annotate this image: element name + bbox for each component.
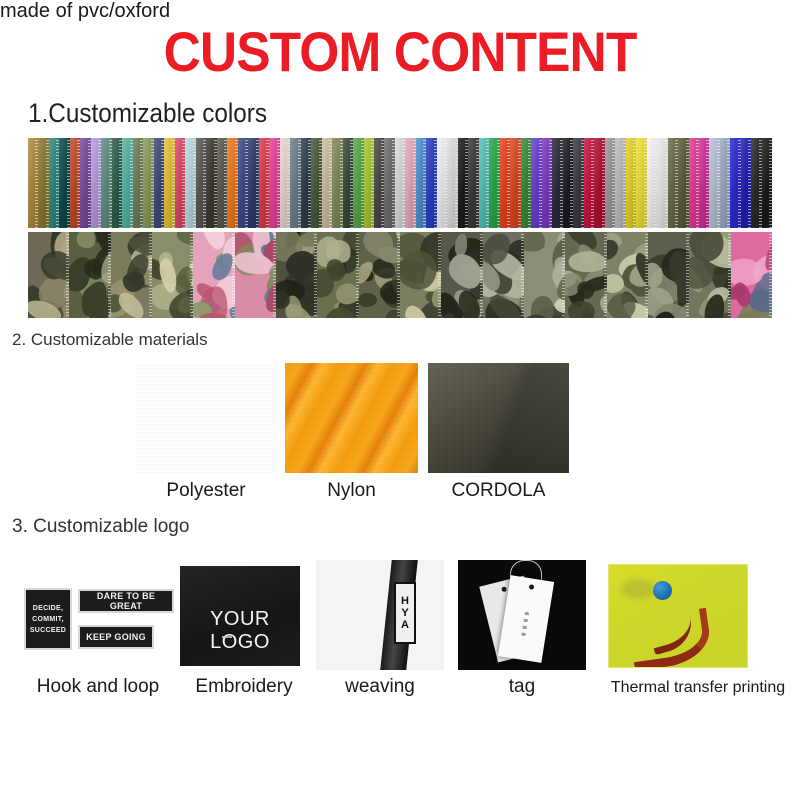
color-swatch: [353, 138, 363, 228]
logo-image-embroidery: YOUR LOGO: [180, 566, 300, 666]
camo-blob: [123, 271, 146, 292]
color-swatch: [196, 138, 206, 228]
embroidery-text: YOUR LOGO: [180, 608, 300, 654]
camo-swatch: [400, 232, 441, 318]
color-swatch: [38, 138, 48, 228]
tag-print-dots: [521, 612, 529, 638]
color-swatch: [364, 138, 374, 228]
camo-blob: [336, 283, 359, 304]
color-swatch: [227, 138, 237, 228]
color-swatch: [468, 138, 478, 228]
color-swatch: [374, 138, 384, 228]
color-swatch: [730, 138, 740, 228]
color-swatch: [49, 138, 59, 228]
color-swatch: [290, 138, 300, 228]
color-swatch: [322, 138, 332, 228]
fabric-texture-overlay: [285, 363, 418, 473]
camo-swatch-strip: [28, 232, 772, 318]
color-swatch: [479, 138, 489, 228]
material-label-cordola: CORDOLA: [428, 480, 569, 502]
color-swatch: [164, 138, 174, 228]
caption-tag: tag: [458, 676, 586, 698]
patch-line-2: COMMIT,: [32, 614, 64, 625]
camo-swatch: [607, 232, 648, 318]
color-swatch: [437, 138, 447, 228]
color-swatch: [500, 138, 510, 228]
color-swatch: [175, 138, 185, 228]
camo-blob: [568, 251, 606, 273]
section-heading-materials: 2. Customizable materials: [12, 330, 208, 350]
camo-swatch: [276, 232, 317, 318]
color-swatch: [28, 138, 38, 228]
color-swatch: [762, 138, 772, 228]
fabric-texture-overlay: [428, 363, 569, 473]
color-swatch: [206, 138, 216, 228]
thermal-blue-dot: [653, 581, 672, 600]
color-swatch: [405, 138, 415, 228]
logo-image-thermal-transfer: [608, 564, 748, 668]
material-image-cordola: [428, 363, 569, 473]
woven-label-letter-3: A: [401, 619, 409, 631]
camo-swatch: [483, 232, 524, 318]
color-swatch: [668, 138, 678, 228]
color-swatch: [259, 138, 269, 228]
color-swatch: [280, 138, 290, 228]
color-swatch: [332, 138, 342, 228]
infographic-page: CUSTOM CONTENT 1.Customizable colors 2. …: [0, 0, 800, 800]
patch-line-3: SUCCEED: [30, 625, 66, 636]
logo-image-weaving: H Y A: [316, 560, 444, 670]
logo-image-tag: [458, 560, 586, 670]
color-swatch: [626, 138, 636, 228]
woven-label-letter-2: Y: [401, 607, 408, 619]
camo-swatch: [441, 232, 482, 318]
camo-swatch: [69, 232, 110, 318]
color-swatch: [657, 138, 667, 228]
color-swatch: [699, 138, 709, 228]
material-image-polyester: [136, 363, 276, 473]
color-swatch: [552, 138, 562, 228]
camo-swatch: [565, 232, 606, 318]
color-swatch: [636, 138, 646, 228]
camo-swatch: [152, 232, 193, 318]
material-label-nylon: Nylon: [285, 480, 418, 502]
woven-label-letter-1: H: [401, 595, 409, 607]
camo-swatch: [731, 232, 772, 318]
color-swatch: [154, 138, 164, 228]
tag-hole: [528, 584, 534, 590]
material-label-polyester: Polyester: [136, 480, 276, 502]
color-swatch: [217, 138, 227, 228]
section-heading-logo: 3. Customizable logo: [12, 516, 189, 538]
color-swatch: [521, 138, 531, 228]
color-swatch: [489, 138, 499, 228]
color-swatch: [395, 138, 405, 228]
color-swatch: [647, 138, 657, 228]
color-swatch: [709, 138, 719, 228]
color-swatch: [269, 138, 279, 228]
camo-blob: [359, 293, 378, 308]
color-swatch: [720, 138, 730, 228]
color-swatch: [112, 138, 122, 228]
camo-blob: [381, 306, 400, 318]
color-swatch: [751, 138, 761, 228]
color-swatch: [238, 138, 248, 228]
color-swatch: [133, 138, 143, 228]
camo-swatch: [193, 232, 234, 318]
caption-hook-and-loop: Hook and loop: [4, 676, 192, 698]
camo-swatch: [359, 232, 400, 318]
fabric-smudge: [621, 579, 655, 599]
color-swatch: [615, 138, 625, 228]
color-swatch: [584, 138, 594, 228]
fabric-texture-overlay: [136, 363, 276, 473]
color-swatch: [59, 138, 69, 228]
color-swatch-strip: [28, 138, 772, 228]
color-swatch: [531, 138, 541, 228]
camo-blob: [524, 232, 548, 254]
camo-swatch: [235, 232, 276, 318]
color-swatch: [101, 138, 111, 228]
patch-decide-commit-succeed: DECIDE, COMMIT, SUCCEED: [24, 588, 72, 650]
stitch-mark: [222, 636, 232, 638]
color-swatch: [248, 138, 258, 228]
color-swatch: [510, 138, 520, 228]
color-swatch: [563, 138, 573, 228]
caption-thermal-transfer-printing: Thermal transfer printing: [600, 679, 796, 697]
camo-swatch: [317, 232, 358, 318]
color-swatch: [426, 138, 436, 228]
camo-swatch: [648, 232, 689, 318]
color-swatch: [80, 138, 90, 228]
camo-swatch: [689, 232, 730, 318]
camo-blob: [568, 301, 595, 318]
color-swatch: [416, 138, 426, 228]
color-swatch: [122, 138, 132, 228]
color-swatch: [301, 138, 311, 228]
caption-embroidery: Embroidery: [180, 676, 308, 698]
color-swatch: [741, 138, 751, 228]
color-swatch: [143, 138, 153, 228]
woven-label: H Y A: [394, 582, 416, 644]
camo-swatch: [524, 232, 565, 318]
color-swatch: [542, 138, 552, 228]
color-swatch: [447, 138, 457, 228]
patch-line-1: DECIDE,: [33, 603, 64, 614]
camo-swatch: [28, 232, 69, 318]
color-swatch: [70, 138, 80, 228]
color-swatch: [185, 138, 195, 228]
section-heading-colors: 1.Customizable colors: [28, 98, 267, 129]
color-swatch: [343, 138, 353, 228]
logo-image-hook-and-loop: DECIDE, COMMIT, SUCCEED DARE TO BE GREAT…: [22, 580, 174, 658]
camo-blob: [175, 232, 193, 249]
color-swatch: [91, 138, 101, 228]
color-swatch: [384, 138, 394, 228]
color-swatch: [594, 138, 604, 228]
color-swatch: [458, 138, 468, 228]
camo-blob: [208, 250, 234, 284]
color-swatch: [689, 138, 699, 228]
patch-dare-to-be-great: DARE TO BE GREAT: [78, 589, 174, 613]
color-swatch: [605, 138, 615, 228]
material-image-nylon: [285, 363, 418, 473]
camo-blob: [599, 292, 607, 318]
tag-hole: [501, 586, 507, 592]
color-swatch: [678, 138, 688, 228]
patch-keep-going: KEEP GOING: [78, 625, 154, 649]
page-title: CUSTOM CONTENT: [32, 22, 768, 82]
color-swatch: [573, 138, 583, 228]
caption-weaving: weaving: [316, 676, 444, 698]
color-swatch: [311, 138, 321, 228]
camo-swatch: [111, 232, 152, 318]
